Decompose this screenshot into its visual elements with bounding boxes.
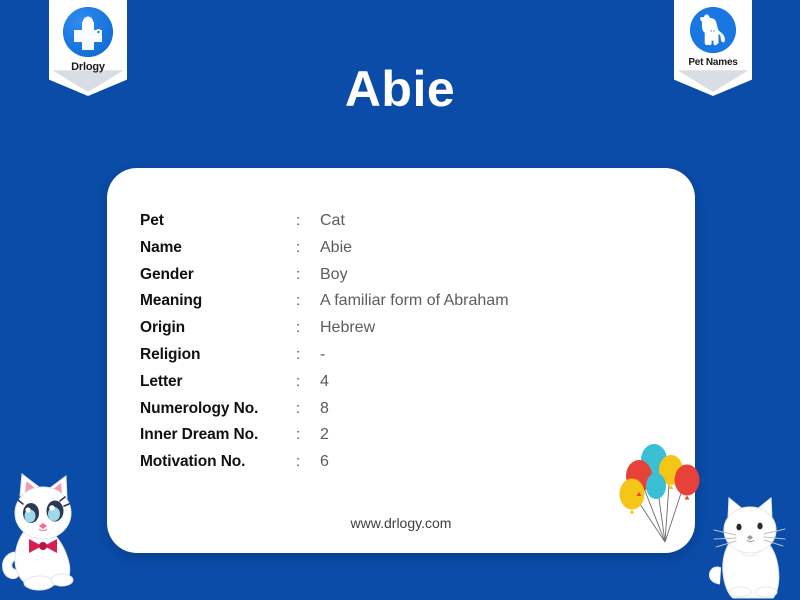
row-label: Pet (140, 212, 296, 230)
row-value: 2 (320, 426, 329, 444)
table-row: Name : Abie (140, 239, 660, 266)
row-label: Motivation No. (140, 453, 296, 471)
table-row: Religion : - (140, 346, 660, 373)
table-row: Numerology No. : 8 (140, 400, 660, 427)
line-art-cat-icon (706, 492, 794, 600)
row-value: Boy (320, 266, 348, 284)
row-separator: : (296, 319, 320, 336)
row-label: Gender (140, 266, 296, 284)
dog-cat-icon (690, 7, 736, 53)
row-label: Name (140, 239, 296, 257)
name-details-card: Pet : Cat Name : Abie Gender : Boy Meani… (107, 168, 695, 553)
cartoon-cat-with-bowtie-icon (0, 466, 90, 600)
table-row: Pet : Cat (140, 212, 660, 239)
row-separator: : (296, 426, 320, 443)
table-row: Gender : Boy (140, 266, 660, 293)
row-label: Religion (140, 346, 296, 364)
badge-pet-names-label: Pet Names (688, 57, 737, 68)
row-separator: : (296, 346, 320, 363)
row-value: 8 (320, 400, 329, 418)
row-value: 4 (320, 373, 329, 391)
row-value: Hebrew (320, 319, 375, 337)
row-separator: : (296, 453, 320, 470)
row-separator: : (296, 212, 320, 229)
row-value: Abie (320, 239, 352, 257)
table-row: Letter : 4 (140, 373, 660, 400)
medical-cross-stethoscope-icon (63, 7, 113, 57)
info-table: Pet : Cat Name : Abie Gender : Boy Meani… (140, 212, 660, 480)
table-row: Meaning : A familiar form of Abraham (140, 292, 660, 319)
row-value: Cat (320, 212, 345, 230)
badge-ribbon-flap (52, 70, 124, 92)
badge-ribbon-flap (677, 70, 749, 92)
row-label: Letter (140, 373, 296, 391)
row-value: 6 (320, 453, 329, 471)
table-row: Inner Dream No. : 2 (140, 426, 660, 453)
row-label: Meaning (140, 292, 296, 310)
badge-pet-names[interactable]: Pet Names (674, 0, 752, 96)
table-row: Motivation No. : 6 (140, 453, 660, 480)
badge-drlogy[interactable]: Drlogy (49, 0, 127, 96)
row-value: - (320, 346, 325, 364)
row-separator: : (296, 292, 320, 309)
row-separator: : (296, 239, 320, 256)
row-value: A familiar form of Abraham (320, 292, 509, 310)
table-row: Origin : Hebrew (140, 319, 660, 346)
row-separator: : (296, 266, 320, 283)
row-label: Numerology No. (140, 400, 296, 418)
badge-drlogy-label: Drlogy (71, 61, 105, 73)
badge-shape: Drlogy (49, 0, 127, 96)
row-separator: : (296, 373, 320, 390)
row-separator: : (296, 400, 320, 417)
row-label: Inner Dream No. (140, 426, 296, 444)
footer-url: www.drlogy.com (107, 515, 695, 531)
row-label: Origin (140, 319, 296, 337)
badge-shape: Pet Names (674, 0, 752, 96)
